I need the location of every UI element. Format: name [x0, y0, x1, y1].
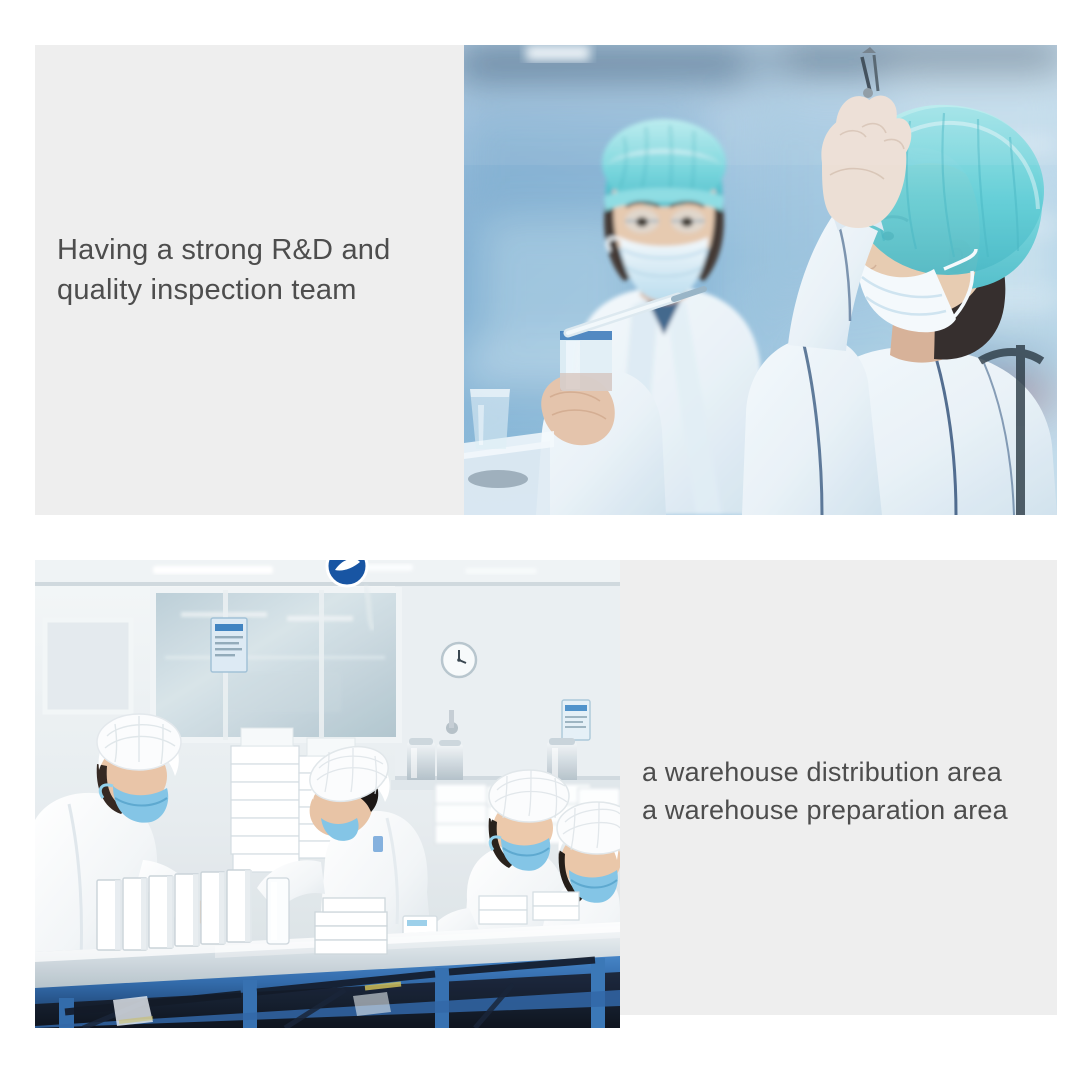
warehouse-packing-photo — [35, 560, 620, 1028]
warehouse-scene — [35, 560, 620, 1028]
lab-scene — [464, 45, 1057, 515]
caption-warehouse-areas: a warehouse distribution area a warehous… — [642, 753, 1062, 829]
caption-rnd-quality: Having a strong R&D and quality inspecti… — [57, 230, 457, 310]
lab-technicians-photo — [464, 45, 1057, 515]
poster-canvas: Having a strong R&D and quality inspecti… — [0, 0, 1080, 1080]
block-rnd-quality: Having a strong R&D and quality inspecti… — [35, 45, 1057, 515]
block-warehouse-areas: a warehouse distribution area a warehous… — [35, 560, 1057, 1028]
